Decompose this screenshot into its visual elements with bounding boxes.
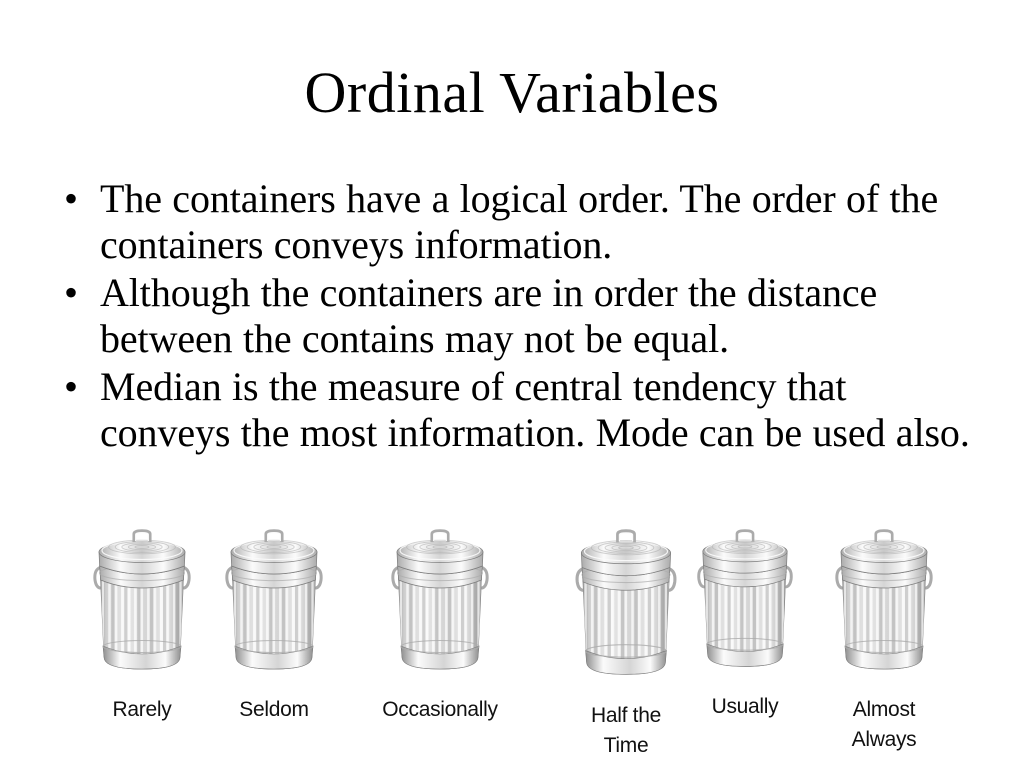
bullet-marker-icon: • [58,270,100,316]
bullet-text-1: The containers have a logical order. The… [100,176,978,268]
bullet-list: • The containers have a logical order. T… [58,176,978,458]
bullet-item-2: • Although the containers are in order t… [58,270,978,362]
scale-item-almost-always[interactable]: Almost Always [819,528,949,755]
scale-item-usually[interactable]: Usually [680,528,810,722]
scale-item-rarely[interactable]: Rarely [77,528,207,725]
scale-item-label: Half the Time [561,701,691,761]
trash-can-icon [830,528,938,688]
bullet-item-1: • The containers have a logical order. T… [58,176,978,268]
trash-can-icon [88,528,196,688]
bullet-text-2: Although the containers are in order the… [100,270,978,362]
bullet-text-3: Median is the measure of central tendenc… [100,364,978,456]
scale-item-label: Seldom [209,695,339,725]
bullet-marker-icon: • [58,364,100,410]
scale-item-label: Occasionally [365,695,515,725]
bullet-item-3: • Median is the measure of central tende… [58,364,978,456]
scale-item-label: Usually [680,692,810,722]
ordinal-scale-row: RarelySeldomOccasionallyHalf the TimeUsu… [0,528,1024,768]
scale-item-seldom[interactable]: Seldom [209,528,339,725]
scale-item-occasionally[interactable]: Occasionally [365,528,515,725]
trash-can-icon [220,528,328,688]
trash-can-icon [692,528,798,685]
scale-item-half-the-time[interactable]: Half the Time [561,528,691,761]
trash-can-icon [570,528,682,694]
scale-item-label: Rarely [77,695,207,725]
page-title: Ordinal Variables [0,60,1024,126]
trash-can-icon [386,528,494,688]
scale-item-label: Almost Always [819,695,949,755]
bullet-marker-icon: • [58,176,100,222]
